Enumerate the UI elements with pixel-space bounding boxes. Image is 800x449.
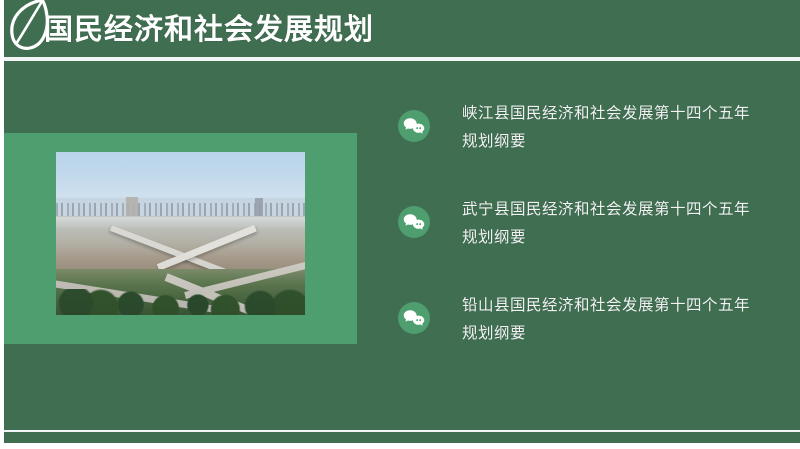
left-margin	[0, 0, 4, 449]
footer-band	[4, 432, 800, 443]
photo-vignette	[56, 152, 305, 315]
header-band: 国民经济和社会发展规划	[4, 0, 800, 57]
list-item[interactable]: 铅山县国民经济和社会发展第十四个五年规划纲要	[398, 292, 770, 388]
list-item[interactable]: 武宁县国民经济和社会发展第十四个五年规划纲要	[398, 196, 770, 292]
aerial-bridge-photo	[56, 152, 305, 315]
page-title: 国民经济和社会发展规划	[44, 8, 374, 52]
list-item-label: 武宁县国民经济和社会发展第十四个五年规划纲要	[462, 196, 752, 252]
chat-bubble-icon	[398, 302, 430, 334]
chat-bubble-icon	[398, 206, 430, 238]
list-item[interactable]: 峡江县国民经济和社会发展第十四个五年规划纲要	[398, 100, 770, 196]
plan-list: 峡江县国民经济和社会发展第十四个五年规划纲要 武宁县国民经济和社会发展第十四个五…	[398, 100, 770, 388]
photo-sky	[56, 152, 305, 315]
list-item-label: 铅山县国民经济和社会发展第十四个五年规划纲要	[462, 292, 752, 348]
slide-canvas: 国民经济和社会发展规划	[0, 0, 800, 449]
list-item-label: 峡江县国民经济和社会发展第十四个五年规划纲要	[462, 100, 752, 156]
header-divider	[4, 57, 800, 61]
chat-bubble-icon	[398, 110, 430, 142]
bottom-margin	[0, 443, 800, 449]
